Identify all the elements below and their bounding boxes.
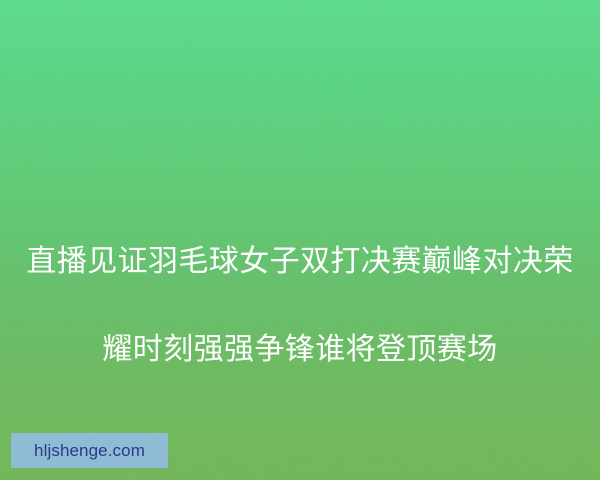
watermark-badge: hljshenge.com	[11, 433, 168, 468]
watermark-site-label: hljshenge.com	[34, 442, 145, 459]
poster-canvas: 直播见证羽毛球女子双打决赛巅峰对决荣 耀时刻强强争锋谁将登顶赛场 hljshen…	[0, 0, 600, 480]
headline-line-1: 直播见证羽毛球女子双打决赛巅峰对决荣	[24, 240, 576, 284]
headline-text: 直播见证羽毛球女子双打决赛巅峰对决荣 耀时刻强强争锋谁将登顶赛场	[0, 196, 600, 416]
headline-line-2: 耀时刻强强争锋谁将登顶赛场	[24, 328, 576, 372]
